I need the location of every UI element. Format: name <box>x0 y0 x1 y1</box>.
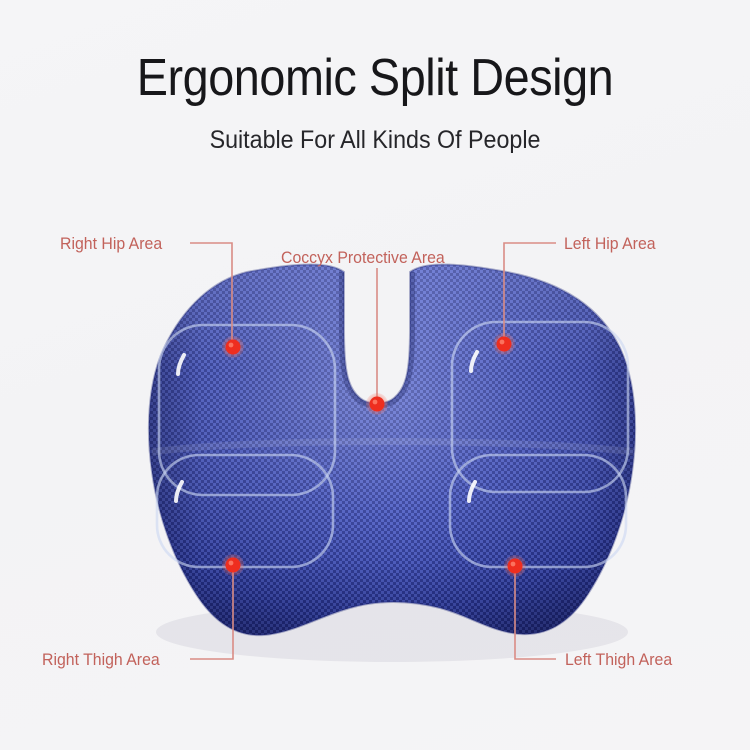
marker-left-thigh[interactable] <box>504 555 526 577</box>
callout-label-left-thigh: Left Thigh Area <box>565 650 672 670</box>
callout-label-left-hip: Left Hip Area <box>564 234 656 254</box>
marker-right-hip[interactable] <box>222 336 244 358</box>
marker-left-hip[interactable] <box>493 333 515 355</box>
infographic-page: Ergonomic Split Design Suitable For All … <box>0 0 750 750</box>
cushion-body <box>140 250 650 650</box>
callout-label-right-thigh: Right Thigh Area <box>42 650 160 670</box>
callout-label-coccyx: Coccyx Protective Area <box>281 248 445 268</box>
marker-coccyx[interactable] <box>366 393 388 415</box>
callout-label-right-hip: Right Hip Area <box>60 234 162 254</box>
marker-right-thigh[interactable] <box>222 554 244 576</box>
cushion-diagram <box>0 0 750 750</box>
